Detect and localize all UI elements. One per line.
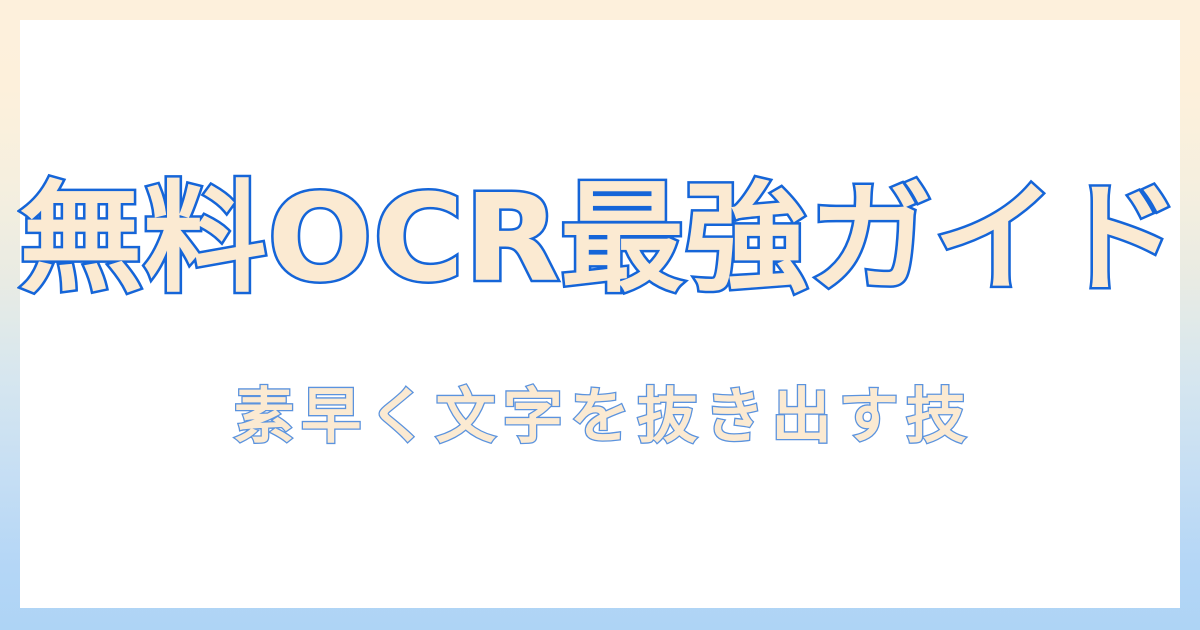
content-card: 無料OCR最強ガイド 素早く文字を抜き出す技: [20, 20, 1180, 608]
page-subtitle: 素早く文字を抜き出す技: [227, 386, 973, 449]
page-title: 無料OCR最強ガイド: [19, 179, 1181, 301]
poster-canvas: 無料OCR最強ガイド 素早く文字を抜き出す技: [0, 0, 1200, 630]
text-stack: 無料OCR最強ガイド 素早く文字を抜き出す技: [20, 20, 1180, 608]
